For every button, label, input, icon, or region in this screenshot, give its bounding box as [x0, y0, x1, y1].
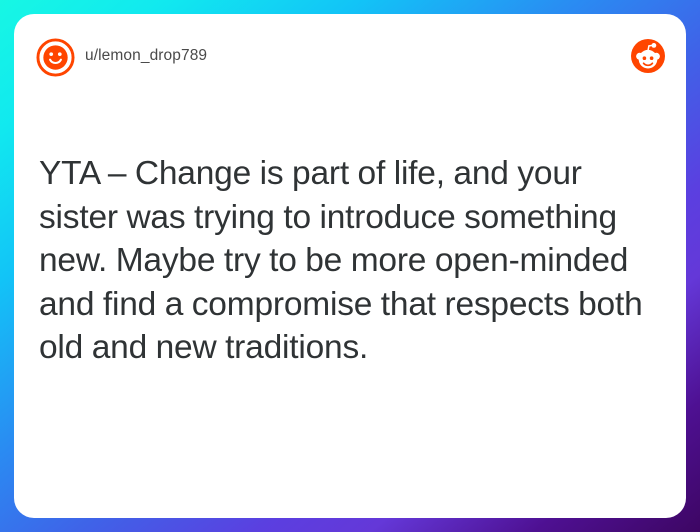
reddit-snoo-icon [628, 36, 668, 76]
screenshot-root: u/lemon_drop789 YTA – Change is part of … [0, 0, 700, 532]
username-label: u/lemon_drop789 [85, 47, 207, 65]
reddit-comment-card: u/lemon_drop789 YTA – Change is part of … [14, 14, 686, 518]
post-body-text: YTA – Change is part of life, and your s… [39, 152, 661, 370]
card-header: u/lemon_drop789 [14, 14, 686, 100]
smiley-face-avatar-icon [36, 38, 75, 77]
